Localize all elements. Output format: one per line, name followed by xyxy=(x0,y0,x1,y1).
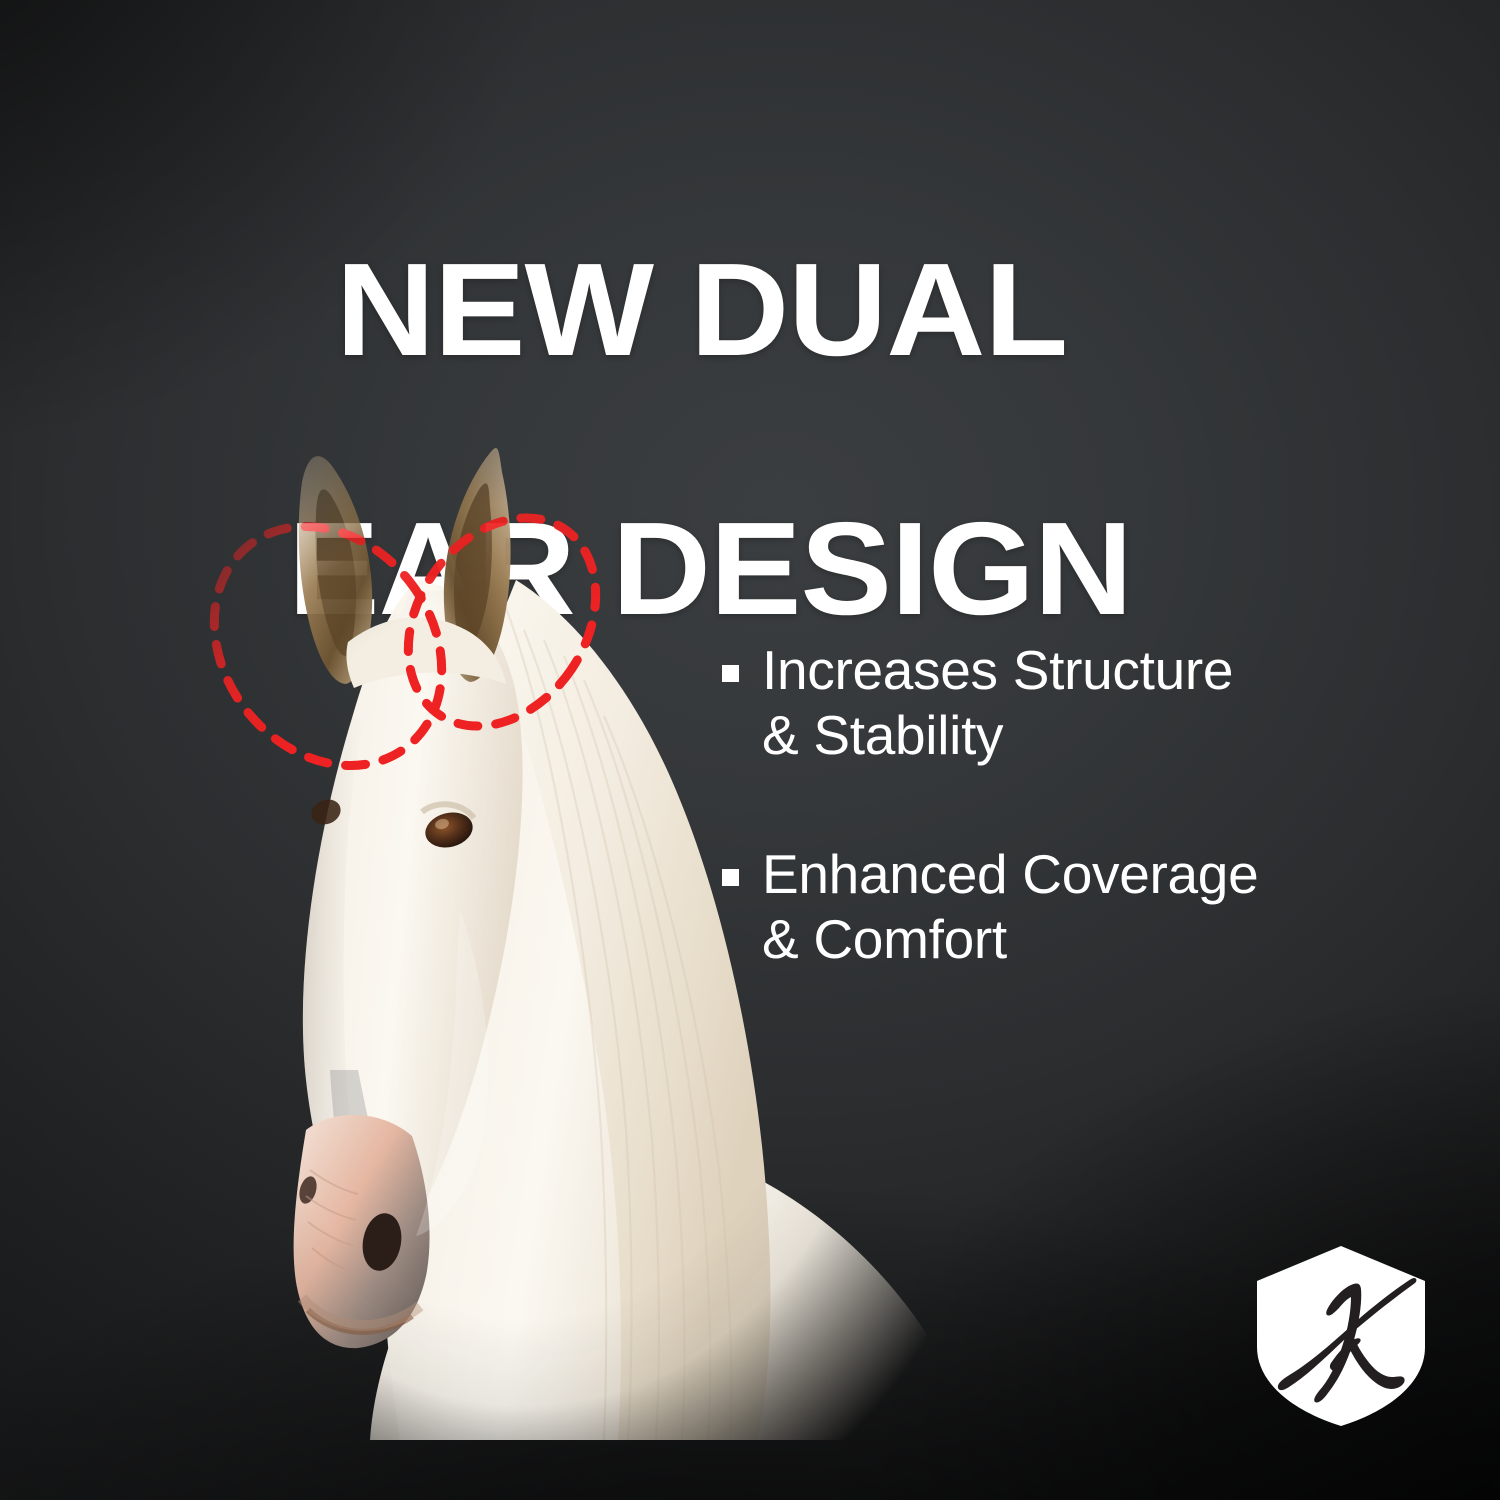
brand-logo xyxy=(1247,1243,1435,1429)
feature-list: Increases Structure & Stability Enhanced… xyxy=(722,638,1442,1046)
shield-k-icon xyxy=(1247,1243,1435,1429)
square-bullet-icon xyxy=(722,665,739,682)
list-item: Increases Structure & Stability xyxy=(722,638,1442,768)
headline-line-1: NEW DUAL xyxy=(288,245,1328,374)
list-item-label: Increases Structure & Stability xyxy=(762,638,1233,768)
list-item: Enhanced Coverage & Comfort xyxy=(722,842,1442,972)
promo-banner: NEW DUAL EAR DESIGN xyxy=(0,0,1500,1500)
list-item-label: Enhanced Coverage & Comfort xyxy=(762,842,1258,972)
square-bullet-icon xyxy=(722,869,739,886)
